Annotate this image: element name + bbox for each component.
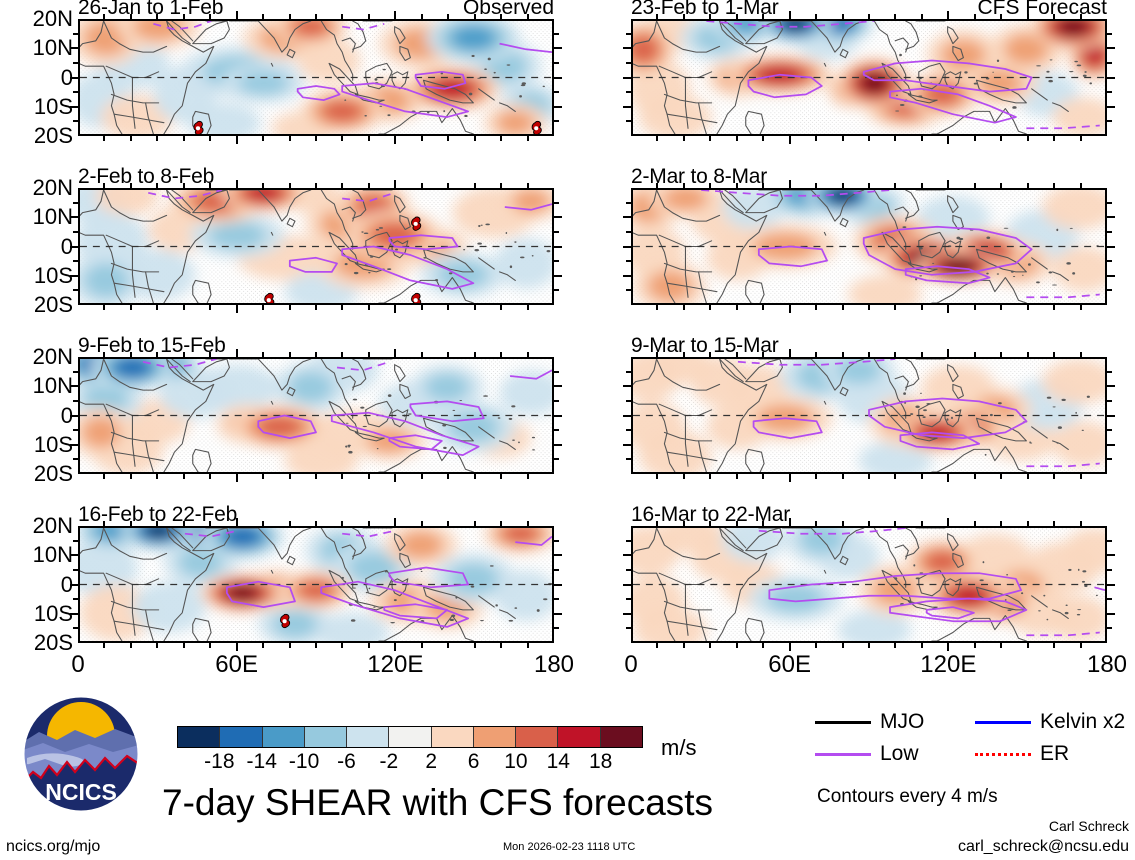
map-frame-obs-row4: [78, 526, 554, 643]
axis-tick: [623, 246, 631, 248]
axis-tick: [1107, 260, 1112, 262]
x-tick-label: 120E: [920, 651, 976, 679]
axis-tick: [341, 643, 343, 648]
axis-tick: [1107, 400, 1112, 402]
axis-tick: [709, 14, 711, 19]
panel-title-cfs-row2: 2-Mar to 8-Mar: [631, 165, 767, 189]
map-frame-obs-row1: [78, 19, 554, 136]
axis-tick: [500, 183, 502, 188]
axis-tick: [368, 183, 370, 188]
axis-tick: [500, 521, 502, 526]
axis-tick: [394, 11, 396, 19]
axis-tick: [554, 540, 559, 542]
colorbar-swatch: [178, 727, 220, 747]
axis-tick: [156, 352, 158, 357]
y-tick-label: 10S: [34, 96, 73, 118]
axis-tick: [656, 474, 658, 479]
axis-tick: [974, 305, 976, 310]
colorbar-tick-label: 2: [425, 750, 437, 774]
axis-tick: [683, 14, 685, 19]
axis-tick: [70, 415, 78, 417]
axis-tick: [974, 474, 976, 479]
axis-tick: [500, 352, 502, 357]
axis-tick: [921, 521, 923, 526]
axis-tick: [236, 11, 238, 19]
map-canvas-obs-row2: [80, 190, 552, 303]
axis-tick: [1053, 474, 1055, 479]
axis-tick: [474, 136, 476, 141]
axis-tick: [289, 474, 291, 479]
axis-tick: [1027, 14, 1029, 19]
axis-tick: [209, 521, 211, 526]
axis-tick: [1107, 444, 1115, 446]
axis-tick: [554, 120, 559, 122]
axis-tick: [73, 231, 78, 233]
axis-tick: [421, 474, 423, 479]
axis-tick: [554, 554, 562, 556]
axis-tick: [974, 183, 976, 188]
axis-tick: [70, 613, 78, 615]
axis-tick: [183, 352, 185, 357]
axis-tick: [1080, 305, 1082, 310]
axis-tick: [236, 349, 238, 357]
axis-tick: [262, 643, 264, 648]
axis-tick: [1107, 429, 1112, 431]
axis-tick: [73, 202, 78, 204]
axis-tick: [709, 305, 711, 310]
axis-tick: [289, 183, 291, 188]
map-panel-obs-row2: 2-Feb to 8-Feb20N10N010S20S: [78, 188, 554, 305]
axis-tick: [762, 643, 764, 648]
panel-title-obs-row3: 9-Feb to 15-Feb: [78, 334, 226, 358]
axis-tick: [868, 136, 870, 141]
axis-tick: [368, 305, 370, 310]
axis-tick: [815, 183, 817, 188]
legend-item-mjo: MJO: [815, 710, 924, 734]
axis-tick: [554, 62, 559, 64]
panel-title-cfs-row3: 9-Mar to 15-Mar: [631, 334, 779, 358]
axis-tick: [130, 183, 132, 188]
axis-tick: [623, 385, 631, 387]
axis-tick: [73, 260, 78, 262]
axis-tick: [500, 14, 502, 19]
axis-tick: [554, 415, 562, 417]
author-email[interactable]: carl_schreck@ncsu.edu: [958, 838, 1129, 856]
axis-tick: [1000, 305, 1002, 310]
axis-tick: [1107, 554, 1115, 556]
map-panel-obs-row4: 16-Feb to 22-Feb20N10N010S20S060E120E180: [78, 526, 554, 643]
axis-tick: [656, 521, 658, 526]
legend-label: Kelvin x2: [1040, 710, 1125, 734]
axis-tick: [709, 643, 711, 648]
axis-tick: [815, 305, 817, 310]
column-header-left: Observed: [463, 0, 554, 20]
axis-tick: [315, 474, 317, 479]
y-tick-label: 10N: [33, 37, 73, 59]
map-canvas-cfs-row2: [633, 190, 1105, 303]
axis-tick: [70, 106, 78, 108]
colorbar-tick-label: -6: [337, 750, 356, 774]
axis-tick: [1000, 643, 1002, 648]
axis-tick: [626, 371, 631, 373]
axis-tick: [626, 289, 631, 291]
axis-tick: [209, 474, 211, 479]
axis-tick: [1107, 91, 1112, 93]
axis-tick: [736, 521, 738, 526]
axis-tick: [236, 136, 238, 144]
axis-tick: [762, 136, 764, 141]
axis-tick: [73, 120, 78, 122]
axis-tick: [815, 474, 817, 479]
axis-tick: [894, 521, 896, 526]
axis-tick: [1080, 183, 1082, 188]
axis-tick: [209, 136, 211, 141]
axis-tick: [447, 643, 449, 648]
y-axis-labels-obs-row4: 20N10N010S20S: [1, 526, 73, 643]
axis-tick: [1107, 106, 1115, 108]
y-tick-label: 20N: [33, 346, 73, 368]
axis-tick: [527, 305, 529, 310]
axis-tick: [70, 275, 78, 277]
axis-tick: [70, 47, 78, 49]
axis-tick: [1080, 521, 1082, 526]
axis-tick: [1000, 521, 1002, 526]
axis-tick: [1053, 136, 1055, 141]
axis-tick: [341, 474, 343, 479]
axis-tick: [974, 521, 976, 526]
axis-tick: [1107, 289, 1112, 291]
axis-tick: [474, 14, 476, 19]
axis-tick: [262, 521, 264, 526]
axis-tick: [156, 183, 158, 188]
axis-tick: [623, 77, 631, 79]
colorbar-tick-label: 18: [589, 750, 612, 774]
colorbar-swatch: [558, 727, 600, 747]
y-tick-label: 20N: [33, 177, 73, 199]
axis-tick: [868, 183, 870, 188]
axis-tick: [341, 136, 343, 141]
axis-tick: [394, 518, 396, 526]
axis-tick: [1107, 120, 1112, 122]
axis-tick: [1107, 385, 1115, 387]
axis-tick: [368, 521, 370, 526]
axis-tick: [315, 643, 317, 648]
legend-item-kelvin-x2: Kelvin x2: [975, 710, 1125, 734]
axis-tick: [894, 14, 896, 19]
axis-tick: [341, 14, 343, 19]
axis-tick: [947, 136, 949, 144]
axis-tick: [656, 136, 658, 141]
axis-tick: [394, 305, 396, 313]
y-tick-label: 20S: [34, 463, 73, 485]
axis-tick: [447, 183, 449, 188]
axis-tick: [1107, 33, 1112, 35]
axis-tick: [815, 14, 817, 19]
map-frame-cfs-row2: [631, 188, 1107, 305]
axis-tick: [868, 352, 870, 357]
axis-tick: [474, 305, 476, 310]
axis-tick: [736, 643, 738, 648]
axis-tick: [1053, 305, 1055, 310]
x-tick-label: 180: [1087, 651, 1127, 679]
axis-tick: [1027, 305, 1029, 310]
axis-tick: [527, 136, 529, 141]
author-name: Carl Schreck: [1049, 818, 1129, 834]
axis-tick: [73, 91, 78, 93]
axis-tick: [842, 183, 844, 188]
axis-tick: [156, 643, 158, 648]
axis-tick: [183, 14, 185, 19]
axis-tick: [183, 183, 185, 188]
colorbar-swatch: [389, 727, 431, 747]
axis-tick: [842, 136, 844, 141]
axis-tick: [394, 474, 396, 482]
axis-tick: [70, 77, 78, 79]
svg-text:NCICS: NCICS: [45, 779, 117, 805]
axis-tick: [1053, 521, 1055, 526]
axis-tick: [1107, 458, 1112, 460]
colorbar-units-label: m/s: [661, 735, 696, 761]
axis-tick: [262, 136, 264, 141]
axis-tick: [894, 136, 896, 141]
axis-tick: [1080, 643, 1082, 648]
axis-tick: [156, 474, 158, 479]
axis-tick: [447, 521, 449, 526]
y-tick-label: 10S: [34, 265, 73, 287]
axis-tick: [341, 305, 343, 310]
axis-tick: [736, 136, 738, 141]
axis-tick: [262, 14, 264, 19]
axis-tick: [474, 521, 476, 526]
colorbar-tick-label: -14: [247, 750, 277, 774]
axis-tick: [736, 352, 738, 357]
colorbar-swatch: [474, 727, 516, 747]
timestamp: Mon 2026-02-23 1118 UTC: [503, 841, 635, 853]
axis-tick: [73, 540, 78, 542]
axis-tick: [789, 349, 791, 357]
axis-tick: [947, 305, 949, 313]
axis-tick: [762, 521, 764, 526]
axis-tick: [315, 183, 317, 188]
axis-tick: [1027, 352, 1029, 357]
map-canvas-cfs-row4: [633, 528, 1105, 641]
axis-tick: [623, 554, 631, 556]
axis-tick: [736, 305, 738, 310]
axis-tick: [1107, 246, 1115, 248]
map-frame-obs-row2: [78, 188, 554, 305]
axis-tick: [130, 474, 132, 479]
column-header-right: CFS Forecast: [977, 0, 1107, 20]
map-canvas-cfs-row1: [633, 21, 1105, 134]
axis-tick: [1053, 183, 1055, 188]
axis-tick: [236, 518, 238, 526]
axis-tick: [289, 14, 291, 19]
colorbar-swatch: [516, 727, 558, 747]
axis-tick: [368, 474, 370, 479]
axis-tick: [315, 352, 317, 357]
panel-title-obs-row1: 26-Jan to 1-Feb: [78, 0, 223, 20]
axis-tick: [1107, 216, 1115, 218]
axis-tick: [683, 643, 685, 648]
x-axis-labels-obs-row4: 060E120E180: [78, 651, 554, 679]
axis-tick: [421, 136, 423, 141]
colorbar-swatch: [432, 727, 474, 747]
axis-tick: [1107, 275, 1115, 277]
colorbar-tick-label: 6: [468, 750, 480, 774]
axis-tick: [1107, 613, 1115, 615]
map-panel-cfs-row4: 16-Mar to 22-Mar060E120E180: [631, 526, 1107, 643]
axis-tick: [554, 400, 559, 402]
axis-tick: [156, 305, 158, 310]
axis-tick: [1107, 415, 1115, 417]
axis-tick: [262, 474, 264, 479]
axis-tick: [554, 613, 562, 615]
contours-note: Contours every 4 m/s: [817, 786, 998, 808]
axis-tick: [209, 305, 211, 310]
axis-tick: [421, 521, 423, 526]
axis-tick: [656, 352, 658, 357]
axis-tick: [73, 569, 78, 571]
axis-tick: [209, 183, 211, 188]
axis-tick: [623, 444, 631, 446]
axis-tick: [683, 352, 685, 357]
axis-tick: [709, 183, 711, 188]
map-canvas-obs-row3: [80, 359, 552, 472]
axis-tick: [626, 62, 631, 64]
map-panel-obs-row1: 26-Jan to 1-FebObserved20N10N010S20S: [78, 19, 554, 136]
panel-title-cfs-row1: 23-Feb to 1-Mar: [631, 0, 779, 20]
axis-tick: [1000, 474, 1002, 479]
axis-tick: [73, 62, 78, 64]
colorbar-swatch: [263, 727, 305, 747]
axis-tick: [947, 518, 949, 526]
axis-tick: [209, 352, 211, 357]
y-tick-label: 10S: [34, 603, 73, 625]
colorbar-tick-labels: -18-14-10-6-226101418: [177, 750, 643, 774]
axis-tick: [421, 643, 423, 648]
y-tick-label: 10N: [33, 206, 73, 228]
axis-tick: [447, 305, 449, 310]
axis-tick: [394, 136, 396, 144]
axis-tick: [421, 183, 423, 188]
axis-tick: [394, 349, 396, 357]
y-axis-labels-obs-row2: 20N10N010S20S: [1, 188, 73, 305]
colorbar-tick-label: -18: [204, 750, 234, 774]
axis-tick: [209, 643, 211, 648]
axis-tick: [474, 183, 476, 188]
axis-tick: [626, 202, 631, 204]
axis-tick: [868, 14, 870, 19]
colorbar-tick-label: 14: [547, 750, 570, 774]
axis-tick: [762, 474, 764, 479]
legend-item-low: Low: [815, 742, 919, 766]
map-canvas-obs-row4: [80, 528, 552, 641]
axis-tick: [73, 598, 78, 600]
axis-tick: [1000, 136, 1002, 141]
legend-line-swatch: [815, 753, 871, 756]
legend-item-er: ER: [975, 742, 1069, 766]
x-tick-label: 120E: [367, 651, 423, 679]
axis-tick: [1107, 584, 1115, 586]
axis-tick: [527, 14, 529, 19]
axis-tick: [156, 521, 158, 526]
axis-tick: [103, 14, 105, 19]
axis-tick: [709, 474, 711, 479]
axis-tick: [974, 643, 976, 648]
axis-tick: [130, 643, 132, 648]
axis-tick: [554, 216, 562, 218]
axis-tick: [815, 643, 817, 648]
axis-tick: [130, 521, 132, 526]
axis-tick: [1107, 202, 1112, 204]
axis-tick: [1053, 643, 1055, 648]
map-panel-obs-row3: 9-Feb to 15-Feb20N10N010S20S: [78, 357, 554, 474]
axis-tick: [626, 231, 631, 233]
axis-tick: [1027, 136, 1029, 141]
axis-tick: [554, 275, 562, 277]
axis-tick: [262, 352, 264, 357]
axis-tick: [1107, 231, 1112, 233]
axis-tick: [623, 275, 631, 277]
axis-tick: [368, 14, 370, 19]
colorbar: [177, 726, 643, 748]
axis-tick: [183, 136, 185, 141]
axis-tick: [1053, 14, 1055, 19]
axis-tick: [554, 371, 559, 373]
axis-tick: [341, 183, 343, 188]
axis-tick: [527, 521, 529, 526]
axis-tick: [500, 643, 502, 648]
axis-tick: [921, 305, 923, 310]
axis-tick: [474, 474, 476, 479]
axis-tick: [623, 47, 631, 49]
map-canvas-obs-row1: [80, 21, 552, 134]
axis-tick: [842, 474, 844, 479]
axis-tick: [1107, 371, 1112, 373]
axis-tick: [1107, 47, 1115, 49]
map-panel-cfs-row3: 9-Mar to 15-Mar: [631, 357, 1107, 474]
legend-label: Low: [880, 742, 919, 766]
axis-tick: [626, 120, 631, 122]
axis-tick: [447, 474, 449, 479]
axis-tick: [394, 643, 396, 651]
axis-tick: [315, 14, 317, 19]
axis-tick: [130, 352, 132, 357]
axis-tick: [554, 627, 559, 629]
axis-tick: [947, 11, 949, 19]
map-frame-cfs-row4: [631, 526, 1107, 643]
axis-tick: [554, 246, 562, 248]
axis-tick: [842, 14, 844, 19]
axis-tick: [289, 352, 291, 357]
axis-tick: [554, 598, 559, 600]
axis-tick: [421, 352, 423, 357]
axis-tick: [289, 305, 291, 310]
axis-tick: [1107, 540, 1112, 542]
colorbar-tick-label: -2: [379, 750, 398, 774]
legend-line-swatch: [975, 753, 1031, 756]
axis-tick: [341, 521, 343, 526]
axis-tick: [1027, 521, 1029, 526]
axis-tick: [554, 202, 559, 204]
axis-tick: [130, 136, 132, 141]
site-url[interactable]: ncics.org/mjo: [6, 838, 100, 856]
axis-tick: [103, 352, 105, 357]
axis-tick: [736, 14, 738, 19]
axis-tick: [183, 521, 185, 526]
axis-tick: [842, 643, 844, 648]
axis-tick: [709, 352, 711, 357]
